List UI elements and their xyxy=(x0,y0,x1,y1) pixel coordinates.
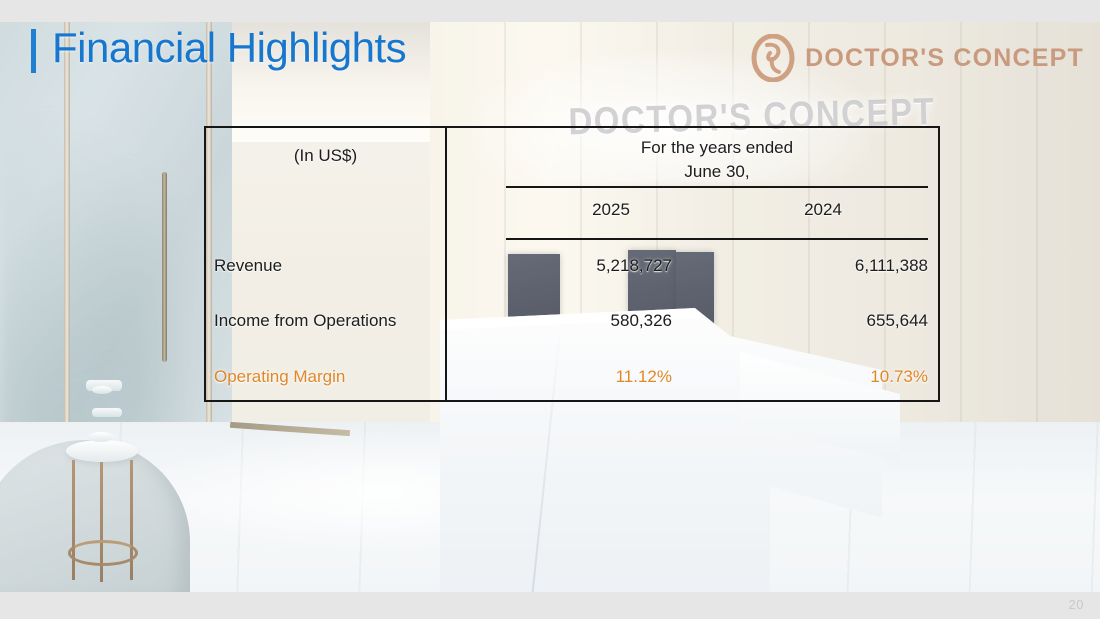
top-band xyxy=(0,0,1100,22)
table-column-divider xyxy=(445,128,447,400)
side-table-leg-1 xyxy=(72,460,75,580)
side-table-leg-3 xyxy=(130,460,133,580)
period-header: For the years ended June 30, xyxy=(506,136,928,184)
period-header-rule xyxy=(506,186,928,188)
row-value-revenue-2025: 5,218,727 xyxy=(488,256,672,276)
brand-name: DOCTOR'S CONCEPT xyxy=(805,44,1084,73)
row-value-operating-margin-2025: 11.12% xyxy=(488,367,672,387)
column-header-2025: 2025 xyxy=(506,200,716,220)
units-label: (In US$) xyxy=(206,146,445,166)
row-value-operating-margin-2024: 10.73% xyxy=(718,367,928,387)
side-table-top xyxy=(66,440,138,462)
row-value-income-2025: 580,326 xyxy=(488,311,672,331)
row-value-revenue-2024: 6,111,388 xyxy=(718,256,928,276)
row-label-operating-margin: Operating Margin xyxy=(214,367,444,387)
column-header-2024: 2024 xyxy=(718,200,928,220)
side-table-object xyxy=(88,432,114,442)
row-label-income-from-operations: Income from Operations xyxy=(214,311,444,331)
period-header-line2: June 30, xyxy=(506,160,928,184)
row-value-income-2024: 655,644 xyxy=(718,311,928,331)
row-label-revenue: Revenue xyxy=(214,256,444,276)
period-header-line1: For the years ended xyxy=(506,136,928,160)
doctors-concept-mark-icon xyxy=(751,34,795,82)
slide: DOCTOR'S CONCEPT 20 Financial Highlights xyxy=(0,0,1100,619)
glass-shelf-lower xyxy=(92,408,122,417)
side-table-object-upper xyxy=(92,386,112,394)
side-table-ring xyxy=(68,540,138,566)
year-header-rule xyxy=(506,238,928,240)
door-handle xyxy=(162,172,167,362)
page-title: Financial Highlights xyxy=(52,24,406,72)
bottom-band xyxy=(0,592,1100,619)
page-number: 20 xyxy=(1069,597,1084,612)
title-accent-bar xyxy=(31,29,36,73)
financial-table: (In US$) For the years ended June 30, 20… xyxy=(204,126,940,402)
brand-logo: DOCTOR'S CONCEPT xyxy=(751,34,1084,82)
